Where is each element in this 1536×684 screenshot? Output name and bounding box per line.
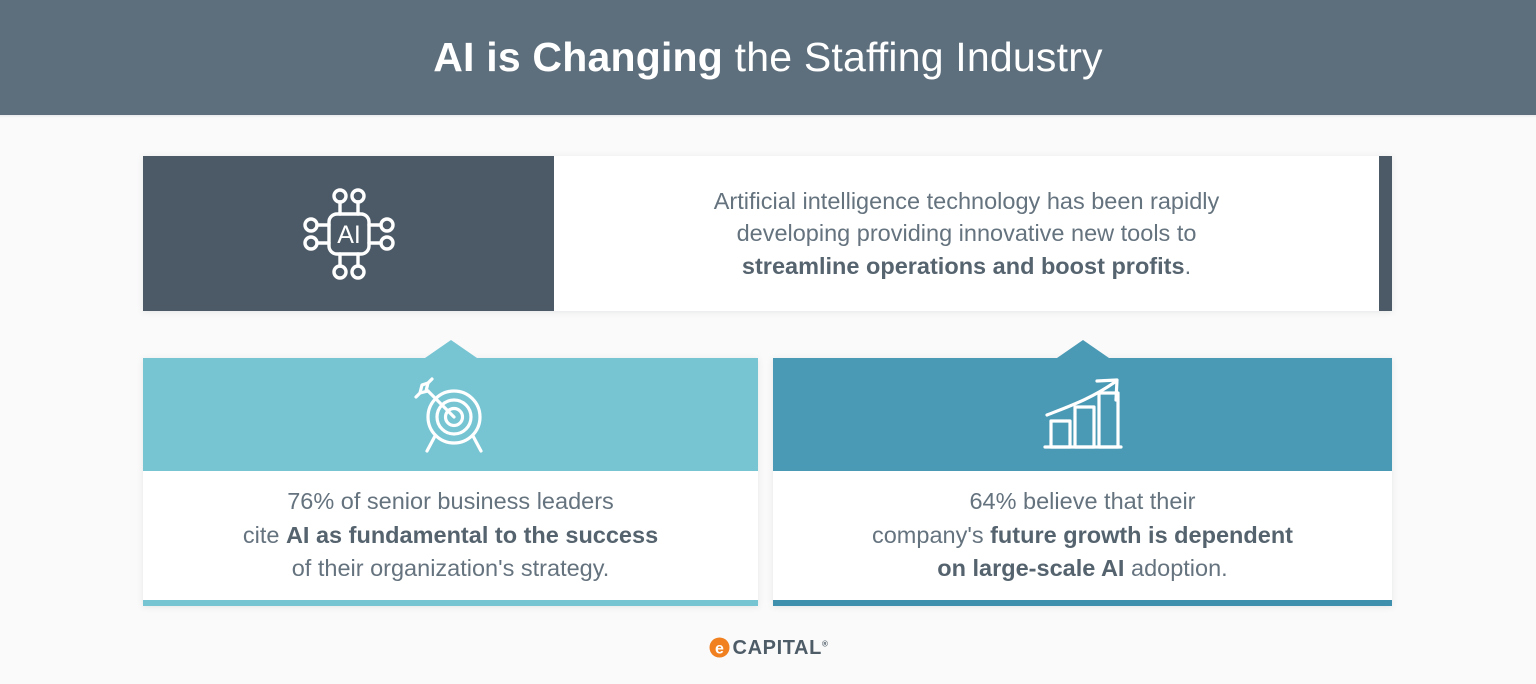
- stat-left-line3: of their organization's strategy.: [292, 555, 610, 581]
- stat-card-right-accent: [773, 600, 1392, 606]
- stat-right-line3-suffix: adoption.: [1124, 555, 1227, 581]
- top-card-body: Artificial intelligence technology has b…: [554, 156, 1379, 311]
- stat-card-left-banner: [143, 358, 758, 471]
- ecapital-e-icon: e: [708, 636, 731, 659]
- top-card-line3-end: .: [1185, 253, 1192, 279]
- top-card-icon-panel: AI: [143, 156, 554, 311]
- ecapital-logo: e CAPITAL®: [708, 636, 829, 659]
- ai-chip-icon-label: AI: [337, 221, 361, 249]
- stat-right-line2-bold: future growth is dependent: [990, 522, 1293, 548]
- top-card-right-edge: [1379, 156, 1392, 311]
- top-card-line1: Artificial intelligence technology has b…: [714, 188, 1220, 214]
- growth-chart-icon: [1037, 371, 1129, 459]
- header-bar: AI is Changing the Staffing Industry: [0, 0, 1536, 115]
- stat-card-left-pointer: [425, 340, 477, 358]
- target-arrow-icon: [408, 372, 494, 458]
- registered-trademark-icon: ®: [822, 639, 829, 648]
- top-card-line3-bold: streamline operations and boost profits: [742, 253, 1185, 279]
- stat-card-right-text: 64% believe that their company's future …: [872, 485, 1293, 585]
- stat-left-line2-bold: AI as fundamental to the success: [286, 522, 658, 548]
- stat-card-left: 76% of senior business leaders cite AI a…: [143, 358, 758, 606]
- stat-left-line1: 76% of senior business leaders: [287, 488, 614, 514]
- footer-logo-wrap: e CAPITAL®: [0, 636, 1536, 659]
- infographic-root: AI is Changing the Staffing Industry: [0, 0, 1536, 684]
- stat-card-right-banner: [773, 358, 1392, 471]
- stat-right-line3-bold: on large-scale AI: [937, 555, 1124, 581]
- stat-card-left-text: 76% of senior business leaders cite AI a…: [243, 485, 658, 585]
- ecapital-wordmark: CAPITAL®: [733, 638, 829, 658]
- stat-card-left-accent: [143, 600, 758, 606]
- ecapital-word-text: CAPITAL: [733, 637, 822, 659]
- stat-right-line2-prefix: company's: [872, 522, 990, 548]
- ai-chip-icon: AI: [293, 178, 405, 290]
- page-title-rest: the Staffing Industry: [723, 34, 1103, 80]
- ecapital-e-letter: e: [715, 641, 724, 658]
- top-card-text: Artificial intelligence technology has b…: [714, 185, 1220, 282]
- page-title-bold: AI is Changing: [433, 34, 723, 80]
- stat-card-left-body: 76% of senior business leaders cite AI a…: [143, 471, 758, 600]
- stat-left-line2-prefix: cite: [243, 522, 286, 548]
- page-title: AI is Changing the Staffing Industry: [433, 34, 1103, 81]
- stat-card-right-pointer: [1057, 340, 1109, 358]
- stat-right-line1: 64% believe that their: [969, 488, 1195, 514]
- top-card-line2: developing providing innovative new tool…: [737, 220, 1197, 246]
- stat-card-right-body: 64% believe that their company's future …: [773, 471, 1392, 600]
- top-card: AI Artificial intelligence technology ha…: [143, 156, 1392, 311]
- stat-card-right: 64% believe that their company's future …: [773, 358, 1392, 606]
